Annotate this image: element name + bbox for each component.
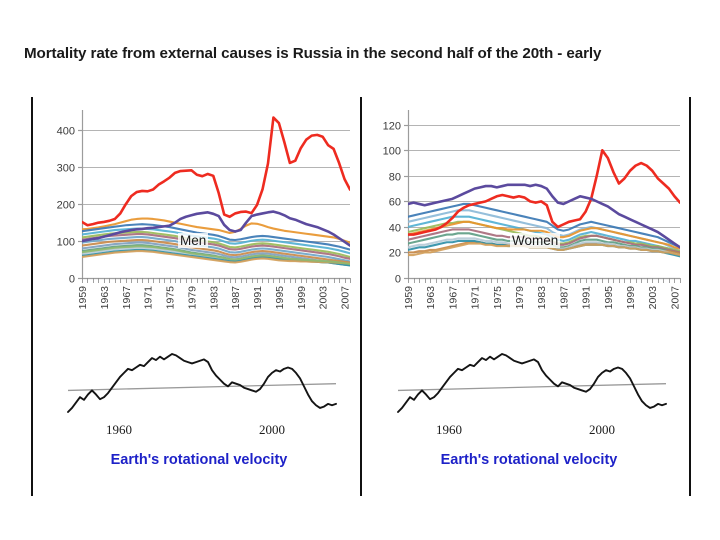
divider-middle: [360, 97, 362, 496]
panel-men: 4003002001000195919631967197119751979198…: [40, 100, 358, 492]
svg-text:1959: 1959: [403, 286, 415, 310]
women-mortality-svg: 1201008060402001959196319671971197519791…: [370, 100, 688, 340]
svg-text:20: 20: [389, 247, 401, 259]
erv-year-start-men: 1960: [106, 422, 132, 438]
svg-text:1983: 1983: [208, 286, 220, 310]
svg-text:40: 40: [389, 222, 401, 234]
slide-canvas: Mortality rate from external causes is R…: [0, 0, 720, 540]
erv-year-start-women: 1960: [436, 422, 462, 438]
svg-text:80: 80: [389, 171, 401, 183]
svg-text:300: 300: [57, 162, 75, 174]
svg-text:1967: 1967: [447, 286, 459, 310]
svg-text:1999: 1999: [296, 286, 308, 310]
svg-text:60: 60: [389, 196, 401, 208]
svg-text:100: 100: [383, 145, 401, 157]
svg-text:1975: 1975: [165, 286, 177, 310]
series-label-men: Men: [178, 233, 208, 248]
series-label-women: Women: [510, 233, 560, 248]
svg-text:1963: 1963: [425, 286, 437, 310]
chart-men-mortality: 4003002001000195919631967197119751979198…: [40, 100, 358, 340]
svg-text:1979: 1979: [514, 286, 526, 310]
women-earth-rotation-svg: [392, 348, 672, 418]
svg-text:1963: 1963: [99, 286, 111, 310]
erv-year-end-women: 2000: [589, 422, 615, 438]
men-mortality-svg: 4003002001000195919631967197119751979198…: [40, 100, 358, 340]
svg-text:1979: 1979: [186, 286, 198, 310]
chart-women-earth-rotation: 1960 2000 Earth's rotational velocity: [370, 348, 688, 492]
panel-women: 1201008060402001959196319671971197519791…: [370, 100, 688, 492]
svg-text:2003: 2003: [647, 286, 659, 310]
svg-text:1971: 1971: [470, 286, 482, 310]
chart-men-earth-rotation: 1960 2000 Earth's rotational velocity: [40, 348, 358, 492]
svg-text:1991: 1991: [252, 286, 264, 310]
svg-text:1991: 1991: [581, 286, 593, 310]
svg-text:1987: 1987: [230, 286, 242, 310]
svg-text:100: 100: [57, 236, 75, 248]
svg-text:120: 120: [383, 120, 401, 132]
svg-text:1995: 1995: [603, 286, 615, 310]
svg-text:1995: 1995: [274, 286, 286, 310]
svg-text:0: 0: [69, 273, 75, 285]
page-title: Mortality rate from external causes is R…: [24, 44, 704, 63]
svg-text:0: 0: [395, 273, 401, 285]
divider-right: [689, 97, 691, 496]
svg-text:1999: 1999: [625, 286, 637, 310]
erv-caption-men: Earth's rotational velocity: [40, 452, 358, 468]
svg-text:2003: 2003: [318, 286, 330, 310]
svg-text:1971: 1971: [143, 286, 155, 310]
erv-year-end-men: 2000: [259, 422, 285, 438]
svg-text:1987: 1987: [558, 286, 570, 310]
svg-text:200: 200: [57, 199, 75, 211]
svg-text:1983: 1983: [536, 286, 548, 310]
men-earth-rotation-svg: [62, 348, 342, 418]
svg-text:1967: 1967: [121, 286, 133, 310]
svg-text:2007: 2007: [669, 286, 681, 310]
svg-text:2007: 2007: [340, 286, 352, 310]
divider-left: [31, 97, 33, 496]
svg-text:1975: 1975: [492, 286, 504, 310]
svg-text:1959: 1959: [77, 286, 89, 310]
chart-women-mortality: 1201008060402001959196319671971197519791…: [370, 100, 688, 340]
svg-text:400: 400: [57, 125, 75, 137]
erv-caption-women: Earth's rotational velocity: [370, 452, 688, 468]
